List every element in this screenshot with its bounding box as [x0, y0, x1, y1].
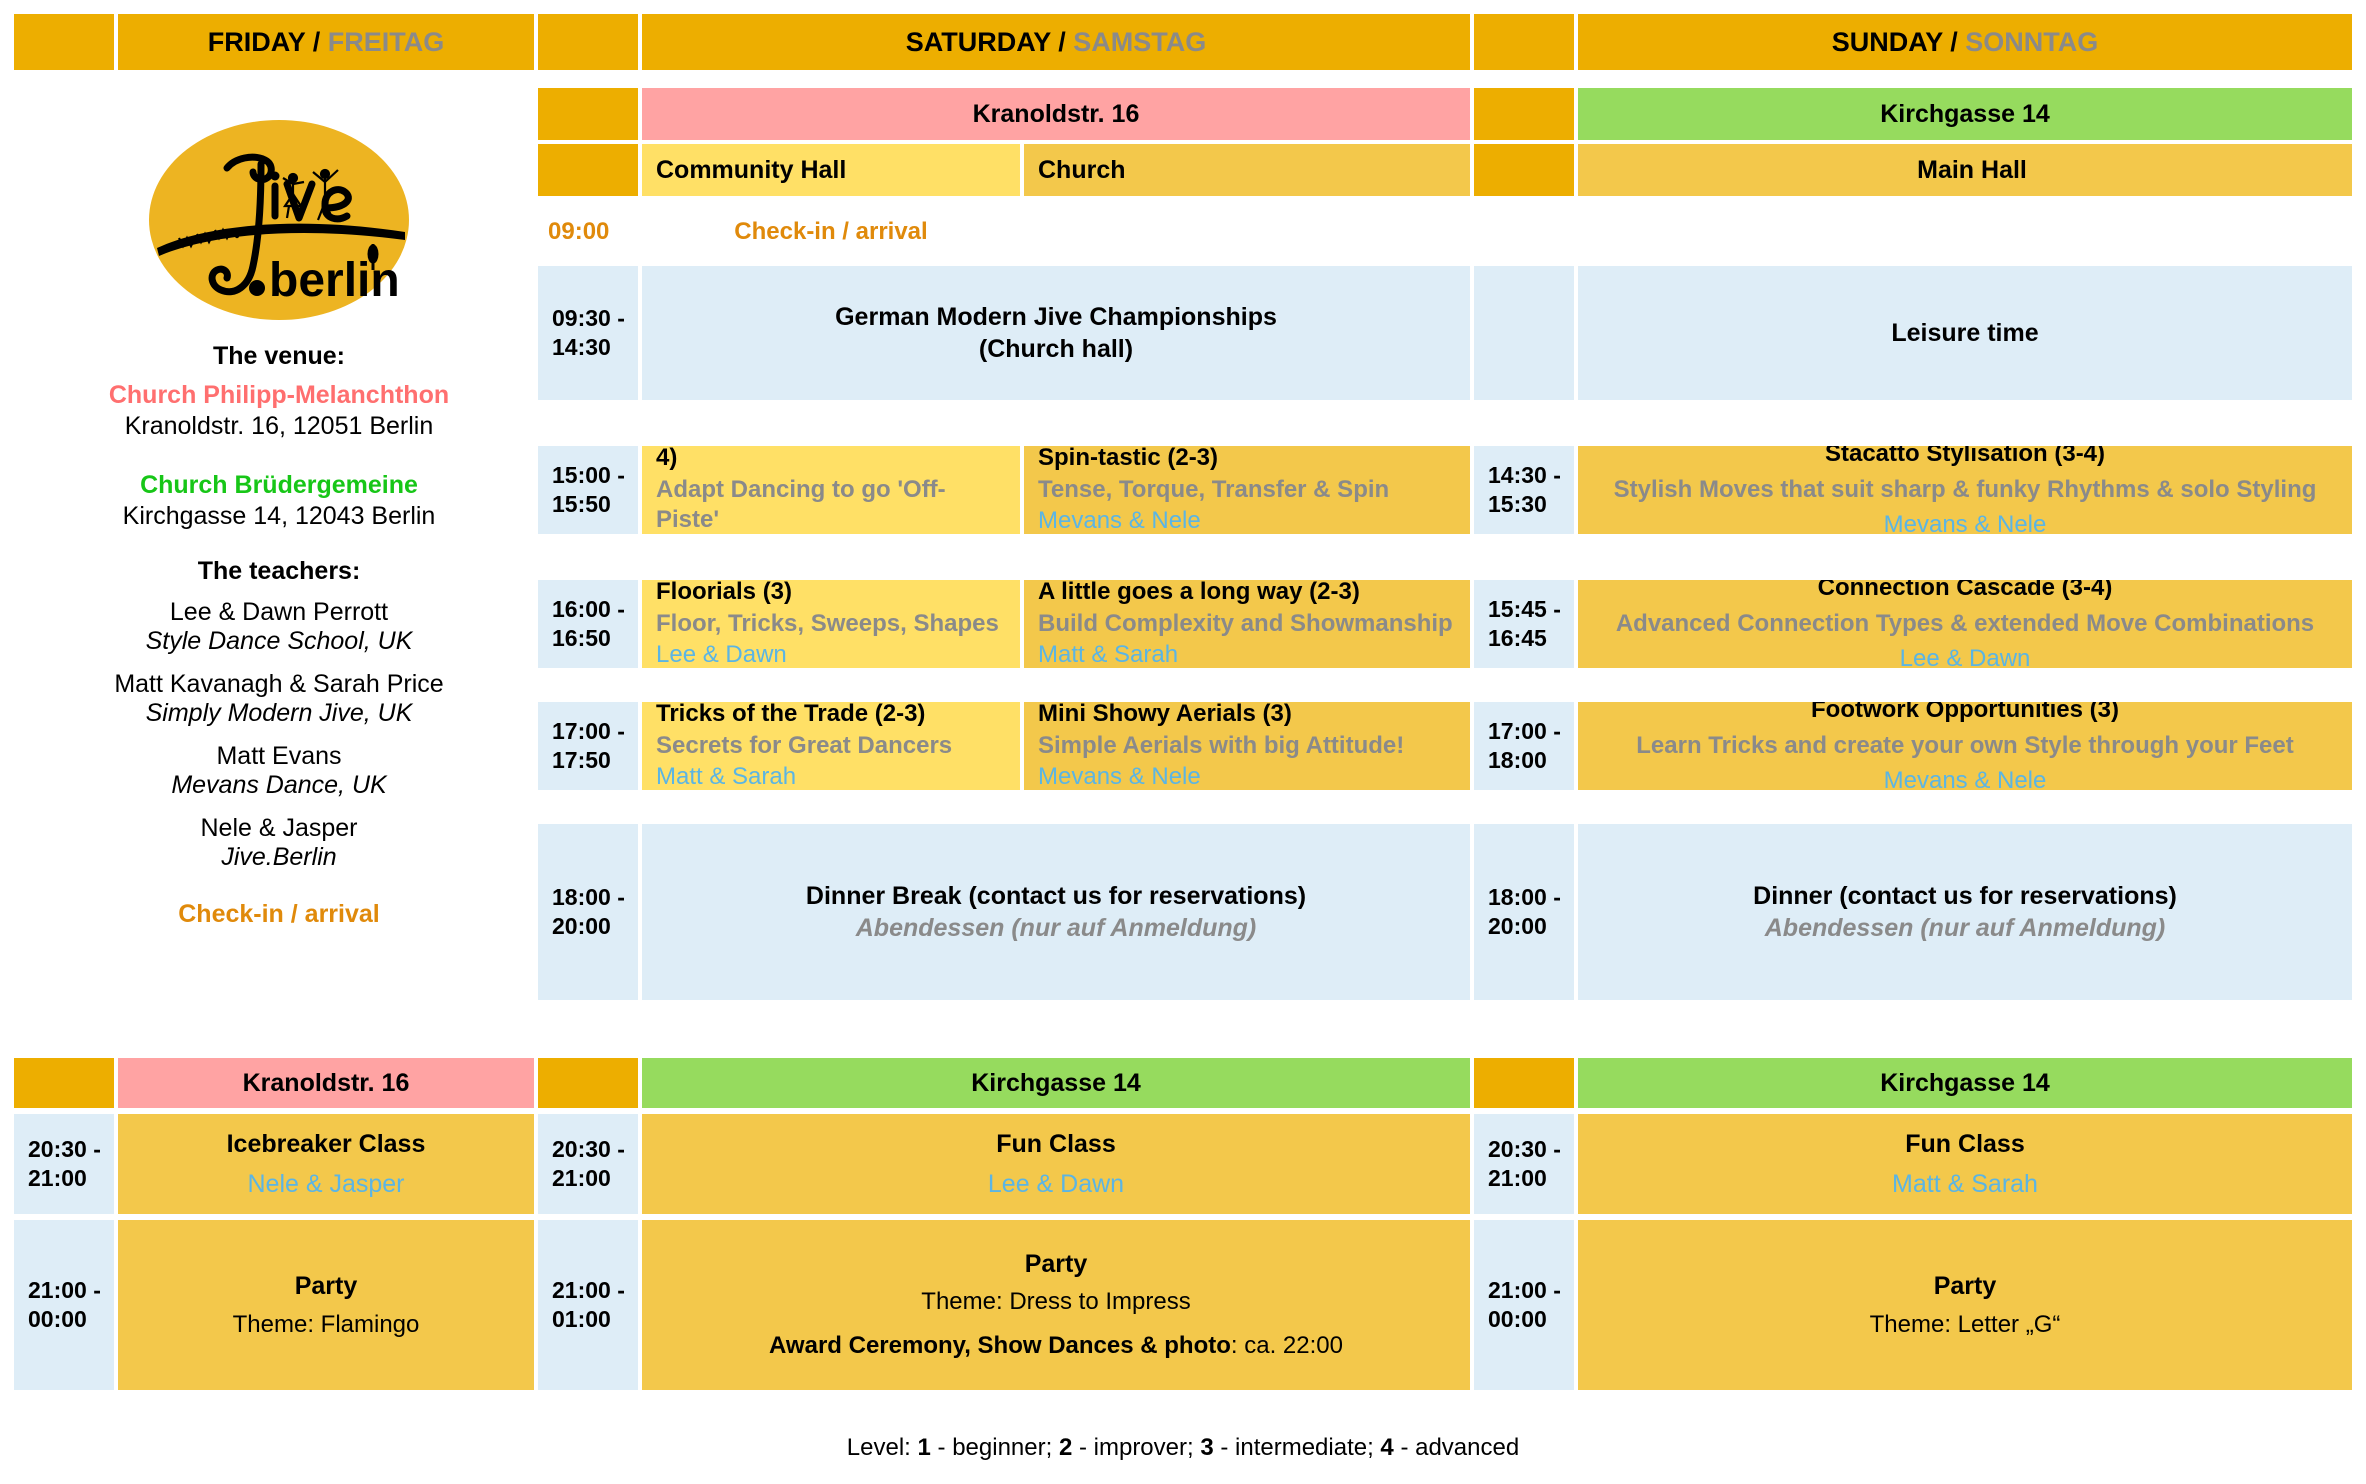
sunday-venue-spacer: [1474, 88, 1574, 140]
workshop-title: Spin-tastic (2-3): [1038, 446, 1218, 474]
saturday-workshop-2-hall: Floorials (3) Floor, Tricks, Sweeps, Sha…: [642, 580, 1020, 668]
teacher-name: Nele & Jasper: [14, 814, 544, 843]
room-church: Church: [1024, 144, 1470, 196]
sunday-workshop-1: Stacatto Stylisation (3-4) Stylish Moves…: [1578, 446, 2352, 534]
sunday-class-block: Fun Class Matt & Sarah: [1578, 1114, 2352, 1214]
sunday-room-spacer: [1474, 144, 1574, 196]
workshop-subtitle: Floor, Tricks, Sweeps, Shapes: [656, 609, 999, 640]
saturday-room-spacer: [538, 144, 638, 196]
workshop-subtitle: Adapt Dancing to go 'Off-Piste': [656, 475, 1006, 534]
workshop-title: Down-Tempo / Expressive (3-4): [656, 446, 1006, 474]
teacher-school: Style Dance School, UK: [14, 627, 544, 656]
sunday-header: SUNDAY / SONNTAG: [1578, 14, 2352, 70]
workshop-title: Connection Cascade (3-4): [1818, 580, 2113, 604]
saturday-workshop-1-time: 15:00 - 15:50: [538, 446, 638, 534]
friday-evening-venue-spacer: [14, 1058, 114, 1108]
saturday-workshop-1-time-line1: 15:00 -: [552, 461, 625, 490]
saturday-class-block: Fun Class Lee & Dawn: [642, 1114, 1470, 1214]
teacher-entry: Nele & Jasper Jive.Berlin: [14, 814, 544, 872]
saturday-workshop-2-time: 16:00 - 16:50: [538, 580, 638, 668]
sunday-workshop-1-time: 14:30 - 15:30: [1474, 446, 1574, 534]
jive-berlin-logo: berlin: [149, 120, 409, 320]
dinner-subtitle: Abendessen (nur auf Anmeldung): [1765, 912, 2165, 944]
teacher-entry: Matt Evans Mevans Dance, UK: [14, 742, 544, 800]
class-title: Icebreaker Class: [227, 1128, 426, 1160]
dinner-title: Dinner (contact us for reservations): [1753, 880, 2177, 912]
sunday-label-de: SONNTAG: [1965, 27, 2098, 57]
dinner-title: Dinner Break (contact us for reservation…: [806, 880, 1306, 912]
saturday-workshop-2-church: A little goes a long way (2-3) Build Com…: [1024, 580, 1470, 668]
saturday-class-time-line2: 21:00: [552, 1164, 611, 1193]
sunday-dinner-time-line2: 20:00: [1488, 912, 1547, 941]
sunday-party-time: 21:00 - 00:00: [1474, 1220, 1574, 1390]
svg-text:berlin: berlin: [269, 254, 400, 307]
workshop-teacher: Lee & Dawn: [656, 640, 787, 668]
sunday-party-time-line1: 21:00 -: [1488, 1276, 1561, 1305]
teacher-school: Jive.Berlin: [14, 843, 544, 872]
workshop-teacher: Mevans & Nele: [1038, 762, 1201, 790]
sunday-venue-kirchgasse: Kirchgasse 14: [1578, 88, 2352, 140]
sunday-dinner-time: 18:00 - 20:00: [1474, 824, 1574, 1000]
party-title: Party: [1025, 1248, 1088, 1280]
party-theme: Theme: Flamingo: [233, 1310, 420, 1341]
sunday-class-time-line1: 20:30 -: [1488, 1135, 1561, 1164]
party-award-label: Award Ceremony, Show Dances & photo: [769, 1332, 1231, 1359]
schedule-page: FRIDAY / FREITAG SATURDAY / SAMSTAG SUND…: [0, 0, 2366, 1484]
room-main-hall: Main Hall: [1578, 144, 2352, 196]
workshop-subtitle: Secrets for Great Dancers: [656, 731, 952, 762]
dinner-subtitle: Abendessen (nur auf Anmeldung): [856, 912, 1256, 944]
championships-title: German Modern Jive Championships: [835, 301, 1277, 333]
friday-header-spacer: [14, 14, 114, 70]
venue-2-name: Church Brüdergemeine: [14, 471, 544, 500]
workshop-teacher: Mevans & Nele: [1038, 506, 1201, 534]
workshop-teacher: Matt & Sarah: [656, 762, 796, 790]
sunday-evening-venue-spacer: [1474, 1058, 1574, 1108]
workshop-subtitle: Build Complexity and Showmanship: [1038, 609, 1453, 640]
legend-level-4-text: - advanced: [1394, 1434, 1519, 1461]
saturday-dinner-time-line1: 18:00 -: [552, 883, 625, 912]
sunday-class-time-line2: 21:00: [1488, 1164, 1547, 1193]
saturday-dinner-time: 18:00 - 20:00: [538, 824, 638, 1000]
saturday-header: SATURDAY / SAMSTAG: [642, 14, 1470, 70]
championships-time-line1: 09:30 -: [552, 304, 625, 333]
sunday-leisure-spacer: [1474, 266, 1574, 400]
sidebar-spacer: [14, 531, 544, 551]
sunday-workshop-2-time-line2: 16:45: [1488, 624, 1547, 653]
workshop-title: Floorials (3): [656, 580, 792, 608]
workshop-teacher: Lee & Dawn: [1900, 644, 2031, 668]
saturday-label-de: SAMSTAG: [1073, 27, 1206, 57]
party-award-line: Award Ceremony, Show Dances & photo: ca.…: [769, 1331, 1343, 1362]
saturday-workshop-2-time-line2: 16:50: [552, 624, 611, 653]
saturday-party-time-line1: 21:00 -: [552, 1276, 625, 1305]
class-teacher: Lee & Dawn: [988, 1168, 1124, 1200]
saturday-checkin-time: 09:00: [538, 212, 638, 252]
class-title: Fun Class: [1905, 1128, 2024, 1160]
workshop-title: Stacatto Stylisation (3-4): [1825, 446, 2105, 470]
saturday-evening-venue-spacer: [538, 1058, 638, 1108]
workshop-subtitle: Learn Tricks and create your own Style t…: [1636, 731, 2294, 762]
saturday-class-time-line1: 20:30 -: [552, 1135, 625, 1164]
party-title: Party: [1934, 1270, 1997, 1302]
friday-party-time: 21:00 - 00:00: [14, 1220, 114, 1390]
saturday-party-block: Party Theme: Dress to Impress Award Cere…: [642, 1220, 1470, 1390]
sunday-party-time-line2: 00:00: [1488, 1305, 1547, 1334]
friday-party-block: Party Theme: Flamingo: [118, 1220, 534, 1390]
legend-level-2-text: - improver;: [1072, 1434, 1200, 1461]
friday-party-time-line1: 21:00 -: [28, 1276, 101, 1305]
friday-class-time: 20:30 - 21:00: [14, 1114, 114, 1214]
teacher-school: Simply Modern Jive, UK: [14, 699, 544, 728]
sidebar-spacer: [14, 441, 544, 461]
championships-block: German Modern Jive Championships (Church…: [642, 266, 1470, 400]
party-award-time: : ca. 22:00: [1231, 1332, 1343, 1359]
sunday-workshop-1-time-line2: 15:30: [1488, 490, 1547, 519]
sunday-workshop-3-time: 17:00 - 18:00: [1474, 702, 1574, 790]
sunday-label-en: SUNDAY: [1832, 27, 1943, 57]
sunday-dinner-block: Dinner (contact us for reservations) Abe…: [1578, 824, 2352, 1000]
saturday-venue-kranoldstr: Kranoldstr. 16: [642, 88, 1470, 140]
teachers-heading: The teachers:: [14, 557, 544, 586]
friday-class-block: Icebreaker Class Nele & Jasper: [118, 1114, 534, 1214]
sidebar-info: berlin The venue: Church Philipp-Melanch…: [14, 120, 544, 929]
sunday-leisure-time: Leisure time: [1578, 266, 2352, 400]
friday-evening-venue: Kranoldstr. 16: [118, 1058, 534, 1108]
sunday-party-block: Party Theme: Letter „G“: [1578, 1220, 2352, 1390]
teacher-entry: Matt Kavanagh & Sarah Price Simply Moder…: [14, 670, 544, 728]
legend-level-2: 2: [1059, 1434, 1072, 1461]
venue-2-address: Kirchgasse 14, 12043 Berlin: [14, 502, 544, 531]
friday-header: FRIDAY / FREITAG: [118, 14, 534, 70]
sunday-workshop-2: Connection Cascade (3-4) Advanced Connec…: [1578, 580, 2352, 668]
saturday-label-en: SATURDAY: [906, 27, 1051, 57]
room-community-hall: Community Hall: [642, 144, 1020, 196]
legend-level-1: 1: [918, 1434, 931, 1461]
workshop-subtitle: Advanced Connection Types & extended Mov…: [1616, 609, 2314, 640]
workshop-title: Tricks of the Trade (2-3): [656, 702, 925, 730]
level-legend: Level: 1 - beginner; 2 - improver; 3 - i…: [0, 1434, 2366, 1462]
workshop-subtitle: Simple Aerials with big Attitude!: [1038, 731, 1404, 762]
saturday-checkin-label: Check-in / arrival: [642, 212, 1020, 252]
saturday-workshop-3-time-line1: 17:00 -: [552, 717, 625, 746]
sunday-dinner-time-line1: 18:00 -: [1488, 883, 1561, 912]
friday-class-time-line2: 21:00: [28, 1164, 87, 1193]
sunday-header-spacer: [1474, 14, 1574, 70]
class-title: Fun Class: [996, 1128, 1115, 1160]
championships-time-line2: 14:30: [552, 333, 611, 362]
sunday-label-sep: /: [1943, 27, 1966, 57]
saturday-workshop-1-hall: Down-Tempo / Expressive (3-4) Adapt Danc…: [642, 446, 1020, 534]
legend-prefix: Level:: [847, 1434, 918, 1461]
saturday-party-time-line2: 01:00: [552, 1305, 611, 1334]
workshop-title: Footwork Opportunities (3): [1811, 702, 2119, 726]
teacher-school: Mevans Dance, UK: [14, 771, 544, 800]
legend-level-1-text: - beginner;: [931, 1434, 1059, 1461]
saturday-workshop-3-time-line2: 17:50: [552, 746, 611, 775]
saturday-dinner-block: Dinner Break (contact us for reservation…: [642, 824, 1470, 1000]
workshop-subtitle: Tense, Torque, Transfer & Spin: [1038, 475, 1389, 506]
class-teacher: Matt & Sarah: [1892, 1168, 2038, 1200]
friday-checkin-label: Check-in / arrival: [14, 900, 544, 929]
workshop-subtitle: Stylish Moves that suit sharp & funky Rh…: [1614, 475, 2317, 506]
championships-time: 09:30 - 14:30: [538, 266, 638, 400]
party-theme: Theme: Letter „G“: [1870, 1310, 2061, 1341]
venue-heading: The venue:: [14, 342, 544, 371]
venue-1-name: Church Philipp-Melanchthon: [14, 381, 544, 410]
party-title: Party: [295, 1270, 358, 1302]
sunday-evening-venue: Kirchgasse 14: [1578, 1058, 2352, 1108]
saturday-workshop-2-time-line1: 16:00 -: [552, 595, 625, 624]
saturday-header-spacer: [538, 14, 638, 70]
legend-level-3-text: - intermediate;: [1214, 1434, 1381, 1461]
saturday-dinner-time-line2: 20:00: [552, 912, 611, 941]
legend-level-4: 4: [1380, 1434, 1393, 1461]
saturday-label-sep: /: [1051, 27, 1074, 57]
teacher-name: Matt Evans: [14, 742, 544, 771]
logo-artwork: berlin: [149, 120, 409, 320]
sunday-workshop-2-time-line1: 15:45 -: [1488, 595, 1561, 624]
sunday-workshop-3: Footwork Opportunities (3) Learn Tricks …: [1578, 702, 2352, 790]
saturday-venue-spacer: [538, 88, 638, 140]
workshop-teacher: Matt & Sarah: [1038, 640, 1178, 668]
saturday-workshop-1-time-line2: 15:50: [552, 490, 611, 519]
friday-label-sep: /: [305, 27, 328, 57]
teacher-name: Matt Kavanagh & Sarah Price: [14, 670, 544, 699]
saturday-workshop-3-hall: Tricks of the Trade (2-3) Secrets for Gr…: [642, 702, 1020, 790]
sunday-workshop-3-time-line2: 18:00: [1488, 746, 1547, 775]
friday-label-en: FRIDAY: [208, 27, 306, 57]
saturday-party-time: 21:00 - 01:00: [538, 1220, 638, 1390]
saturday-workshop-1-church: Spin-tastic (2-3) Tense, Torque, Transfe…: [1024, 446, 1470, 534]
saturday-class-time: 20:30 - 21:00: [538, 1114, 638, 1214]
teacher-name: Lee & Dawn Perrott: [14, 598, 544, 627]
workshop-title: A little goes a long way (2-3): [1038, 580, 1360, 608]
workshop-teacher: Mevans & Nele: [1884, 510, 2047, 534]
saturday-evening-venue: Kirchgasse 14: [642, 1058, 1470, 1108]
friday-label-de: FREITAG: [328, 27, 445, 57]
class-teacher: Nele & Jasper: [247, 1168, 404, 1200]
workshop-teacher: Mevans & Nele: [1884, 766, 2047, 790]
saturday-workshop-3-time: 17:00 - 17:50: [538, 702, 638, 790]
workshop-title: Mini Showy Aerials (3): [1038, 702, 1292, 730]
party-theme: Theme: Dress to Impress: [921, 1287, 1190, 1318]
sunday-class-time: 20:30 - 21:00: [1474, 1114, 1574, 1214]
sunday-workshop-3-time-line1: 17:00 -: [1488, 717, 1561, 746]
friday-party-time-line2: 00:00: [28, 1305, 87, 1334]
teacher-entry: Lee & Dawn Perrott Style Dance School, U…: [14, 598, 544, 656]
venue-1-address: Kranoldstr. 16, 12051 Berlin: [14, 412, 544, 441]
legend-level-3: 3: [1200, 1434, 1213, 1461]
friday-class-time-line1: 20:30 -: [28, 1135, 101, 1164]
sunday-workshop-1-time-line1: 14:30 -: [1488, 461, 1561, 490]
championships-subtitle: (Church hall): [979, 333, 1133, 365]
saturday-workshop-3-church: Mini Showy Aerials (3) Simple Aerials wi…: [1024, 702, 1470, 790]
sunday-workshop-2-time: 15:45 - 16:45: [1474, 580, 1574, 668]
